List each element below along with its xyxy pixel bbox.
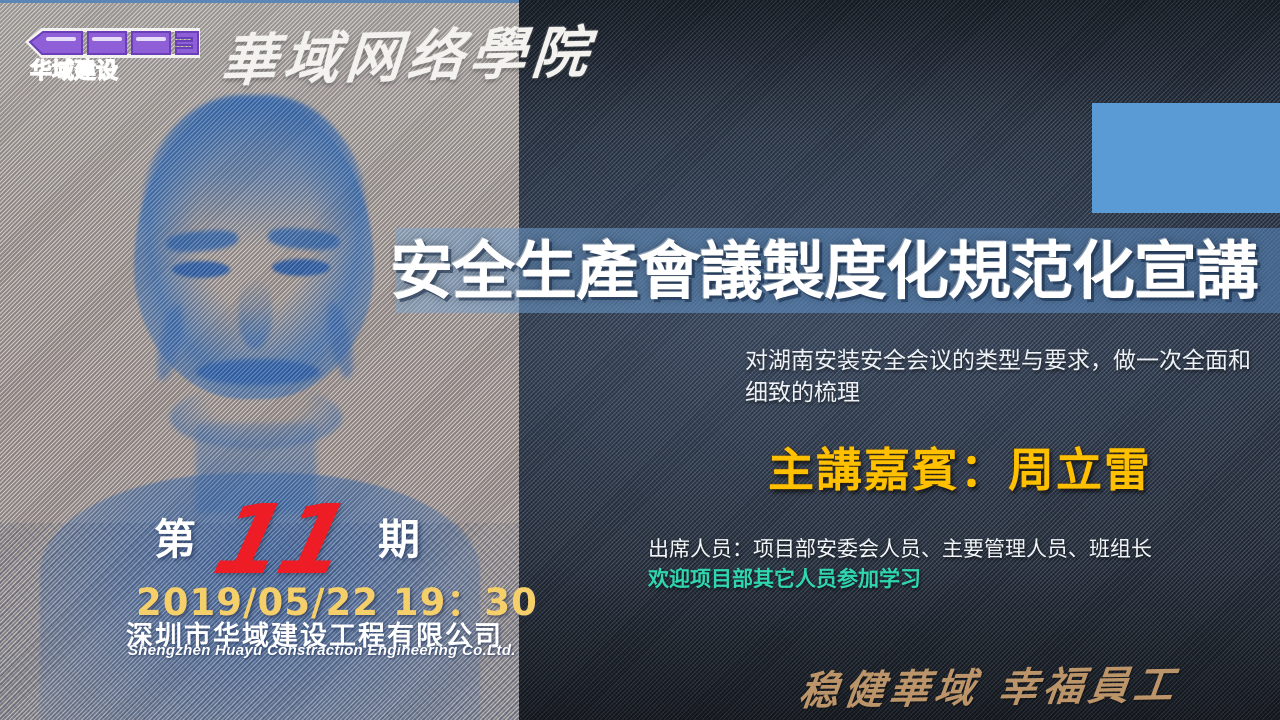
episode-prefix: 第 <box>154 506 196 567</box>
speaker-label: 主講嘉賓：周立雷 <box>640 434 1280 500</box>
svg-text:华域建设: 华域建设 <box>30 58 118 84</box>
huayu-construction-logo-icon: 华域建设 <box>22 22 212 84</box>
poster-canvas: 华域建设 華域网络學院 安全生產會議製度化規范化宣講 对湖南安装安全会议的类型与… <box>0 0 1280 720</box>
blue-accent-rectangle <box>1092 103 1280 213</box>
company-name-en: Shengzhen Huayu Constraction Engineering… <box>128 642 528 659</box>
welcome-line: 欢迎项目部其它人员参加学习 <box>648 566 1268 594</box>
attendees-line: 出席人员：项目部安委会人员、主要管理人员、班组长 <box>648 536 1268 564</box>
episode-number-group: 第 11 期 <box>130 498 460 570</box>
episode-suffix: 期 <box>378 506 420 567</box>
corporate-slogan: 稳健華域 幸福員工 <box>796 651 1254 717</box>
subtitle-text: 对湖南安装安全会议的类型与要求，做一次全面和细致的梳理 <box>745 344 1265 408</box>
academy-title: 華域网络學院 <box>218 7 597 97</box>
page-title: 安全生產會議製度化規范化宣講 <box>390 232 1280 312</box>
